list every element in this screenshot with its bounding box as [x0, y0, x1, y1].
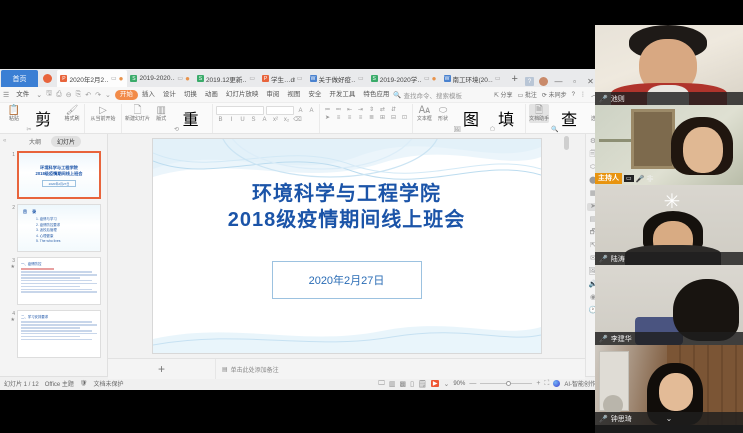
- shapes-label: 形状: [438, 116, 448, 123]
- thumbnail-list[interactable]: 1 环境科学与工程学院 2018级疫情期间线上班会 2020年2月27日 2: [0, 148, 107, 376]
- thumb-text-line: [21, 333, 97, 335]
- navigator-tabs: « 大纲 幻灯片: [0, 134, 107, 148]
- comment-button[interactable]: ▭ 批注: [518, 90, 537, 99]
- menu-bar: ☰ 文件 ⌄ 🖫 ⎙ ⊖ ⎘ ↶ ↷ ⌄ 开始 插入 设计 切换 动画 幻灯片放…: [0, 87, 600, 103]
- microphone-muted-icon: 🎤: [599, 415, 608, 423]
- shapes-button[interactable]: ⬭ 形状: [435, 104, 452, 123]
- grid-apps-icon[interactable]: ?: [525, 77, 534, 86]
- doc-tab-label: 关于做好疫…: [319, 74, 357, 84]
- participant-name: 钟思琦: [611, 414, 632, 424]
- font-family-select[interactable]: [216, 106, 264, 115]
- shrink-font-icon[interactable]: A: [307, 108, 316, 114]
- list-item[interactable]: 4 ★ 二、学习安排要求: [8, 310, 101, 358]
- zoom-out-button[interactable]: —: [469, 380, 476, 387]
- sync-icon: ⟳: [542, 93, 547, 99]
- thumbnail-slide-1[interactable]: 环境科学与工程学院 2018级疫情期间线上班会 2020年2月27日: [17, 151, 101, 199]
- notes-pane: + ▤ 单击此处添加备注: [108, 358, 585, 379]
- slide-count: 幻灯片 1 / 12: [4, 379, 39, 388]
- ribbon-group-slideshow: ▷ 从当前开始: [85, 104, 122, 133]
- undo-icon[interactable]: ↶: [85, 91, 91, 99]
- current-slide[interactable]: 环境科学与工程学院 2018级疫情期间线上班会 2020年2月27日: [152, 138, 542, 354]
- video-tile-1[interactable]: 主持人 ▭ 🎤 非: [595, 105, 743, 185]
- app-logo-icon: [38, 70, 57, 87]
- thumbnail-slide-2[interactable]: 目 录 1. 疫情与学习 2. 疫情防控要求 3. 返校后管理 4. 心理健康 …: [17, 204, 101, 252]
- print-icon[interactable]: ⎙: [56, 91, 62, 99]
- thumb-text-line: [21, 280, 92, 282]
- slide-editor: 环境科学与工程学院 2018级疫情期间线上班会 2020年2月27日 + ▤ 单…: [108, 134, 585, 376]
- doc-tab-5[interactable]: S 2019-2020学… ▭ ●: [368, 70, 441, 87]
- ribbon-group-paragraph: ≔ ≕ ⇤ ⇥ ⇕ ⇄ ⇵ ➤ ≡ ≡ ≡ ≣ ⊞: [320, 104, 413, 133]
- animation-star-icon: ★: [8, 317, 15, 323]
- strikethrough-button[interactable]: S: [249, 117, 258, 123]
- thumb-heading: 二、学习安排要求: [18, 311, 100, 320]
- doc-tab-2[interactable]: S 2019.12更新… ▭: [194, 70, 259, 87]
- doc-tab-label: 2019-2020…: [139, 75, 175, 82]
- lock-icon[interactable]: ⎘: [76, 91, 82, 99]
- textbox-label: 文本框: [417, 116, 432, 123]
- align-right-button[interactable]: ≡: [356, 115, 365, 121]
- thumb-toc-heading: 目 录: [18, 205, 100, 217]
- thumbnail-slide-3[interactable]: 一、疫情防控: [17, 257, 101, 305]
- present-dropdown-icon[interactable]: ⌄: [443, 380, 449, 388]
- format-painter-button[interactable]: 🖌 格式刷: [63, 104, 81, 123]
- help-button[interactable]: ?: [572, 92, 575, 98]
- slide-title[interactable]: 环境科学与工程学院 2018级疫情期间线上班会: [153, 181, 541, 233]
- ppt-file-icon: P: [262, 75, 269, 82]
- thumb-text-line: [21, 327, 80, 329]
- menu-tab-security[interactable]: 安全: [304, 88, 325, 102]
- dropdown-icon[interactable]: ⌄: [105, 91, 111, 99]
- microphone-icon: 🎤: [599, 95, 608, 103]
- slide-navigator-panel: « 大纲 幻灯片 1 环境科学与工程学院 2018级疫情期间线上班会 2020年…: [0, 134, 108, 376]
- doc-tab-label: 南工环境(20…: [453, 74, 493, 84]
- menu-tab-design[interactable]: 设计: [159, 88, 180, 102]
- thumb-text-line: [21, 277, 80, 279]
- slide-canvas-area[interactable]: 环境科学与工程学院 2018级疫情期间线上班会 2020年2月27日: [108, 134, 585, 358]
- participant-name: 非: [646, 174, 653, 184]
- notes-placeholder[interactable]: ▤ 单击此处添加备注: [216, 365, 279, 374]
- thumbnail-number: 3 ★: [8, 257, 15, 305]
- font-size-select[interactable]: [266, 106, 294, 115]
- play-icon: ▷: [99, 105, 107, 116]
- normal-view-icon[interactable]: 🖵: [378, 380, 385, 388]
- sync-button[interactable]: ⟳ 未同步: [542, 90, 567, 99]
- comment-icon: ▭: [518, 93, 524, 99]
- thumb-text-line: [21, 321, 92, 323]
- sheet-file-icon: S: [371, 75, 378, 82]
- doc-tab-label: 2019.12更新…: [206, 74, 247, 84]
- close-icon[interactable]: ▭: [495, 75, 501, 82]
- decorative-wave-bottom: [153, 313, 541, 353]
- subscript-button[interactable]: x₂: [282, 117, 291, 123]
- zoom-slider-knob[interactable]: [506, 381, 511, 386]
- thumb-heading: 一、疫情防控: [18, 258, 100, 267]
- participant-name: 陆涛: [611, 254, 625, 264]
- ribbon-group-slides: 🗋 新建幻灯片 ▥ 版式 ⟲ 重置 ▤ 节: [122, 104, 213, 133]
- line-spacing-button[interactable]: ⇕: [367, 106, 376, 113]
- slide-title-line1: 环境科学与工程学院: [153, 181, 541, 207]
- picture-button[interactable]: 🖼 图片: [453, 106, 486, 134]
- paste-icon: 📋: [8, 105, 20, 116]
- picture-label: 图片: [463, 106, 487, 134]
- minimize-button[interactable]: —: [553, 77, 564, 86]
- video-tile-2[interactable]: ✳ 🎤 陆涛: [595, 185, 743, 265]
- thumb-text-line: [21, 283, 97, 285]
- select-pointer-icon[interactable]: ➤: [323, 114, 332, 121]
- menu-tab-featured-apps[interactable]: 特色应用: [359, 88, 393, 102]
- align-left-button[interactable]: ≡: [334, 115, 343, 121]
- fill-icon: ⬠: [489, 126, 496, 135]
- numbering-button[interactable]: ≕: [334, 106, 343, 113]
- bullets-button[interactable]: ≔: [323, 106, 332, 113]
- hamburger-icon[interactable]: ☰: [3, 91, 9, 99]
- paste-label: 粘贴: [9, 116, 19, 123]
- doc-tab-0[interactable]: P 2020年2月2… ▭ ●: [57, 70, 127, 87]
- close-icon[interactable]: ▭: [358, 75, 364, 82]
- search-placeholder: 查找命令、搜索模板: [403, 90, 462, 100]
- participant-name: 池则: [611, 94, 625, 104]
- columns-button[interactable]: ⊞: [378, 114, 387, 121]
- close-icon[interactable]: ▭: [111, 75, 117, 82]
- workspace: « 大纲 幻灯片 1 环境科学与工程学院 2018级疫情期间线上班会 2020年…: [0, 134, 600, 376]
- textbox-icon: 🗛: [419, 105, 430, 116]
- unsaved-dot-icon: ●: [432, 76, 437, 82]
- grow-font-icon[interactable]: A: [296, 108, 305, 114]
- animation-star-icon: ★: [8, 264, 15, 270]
- ribbon-group-editing: 🗎 文档助手 🔍 查找 ⇄ 替换 🗔 选择窗格: [526, 104, 600, 133]
- find-icon: 🔍: [551, 126, 559, 135]
- print-preview-icon[interactable]: ⊖: [66, 91, 72, 99]
- menu-tab-slideshow[interactable]: 幻灯片放映: [222, 88, 263, 102]
- share-icon: ⇱: [494, 93, 499, 99]
- doc-tab-label: 学生…df: [271, 74, 295, 84]
- participant-label-0: 🎤 池则: [595, 92, 743, 105]
- menu-tab-review[interactable]: 审阅: [262, 88, 283, 102]
- increase-indent-button[interactable]: ⇥: [356, 106, 365, 113]
- thumb-toc-item: 5. The who lives: [18, 239, 100, 245]
- reading-view-icon[interactable]: ▯: [410, 380, 414, 388]
- shield-icon: 🛡: [80, 380, 88, 387]
- thumb-text-line: [21, 324, 97, 326]
- collapse-panel-icon[interactable]: «: [3, 138, 6, 144]
- find-label: 查找: [561, 106, 587, 134]
- grid-view-icon[interactable]: ▩: [399, 380, 406, 388]
- sheet-file-icon: S: [197, 75, 204, 82]
- zoom-slider[interactable]: [480, 383, 532, 384]
- reset-icon: ⟲: [172, 126, 180, 135]
- microphone-muted-icon: 🎤: [599, 335, 608, 343]
- thumb-text-line: [21, 268, 54, 270]
- smartart-button[interactable]: ⊟: [389, 114, 398, 121]
- doc-assistant-icon: 🗎: [535, 105, 543, 116]
- ai-label[interactable]: AI-智能创作: [564, 379, 596, 388]
- microphone-muted-icon: 🎤: [599, 255, 608, 263]
- fit-screen-icon[interactable]: ⛶: [544, 380, 549, 388]
- cut-button[interactable]: ✂ 剪切: [25, 106, 61, 134]
- layout-label: 版式: [156, 116, 166, 123]
- theme-name[interactable]: Office 主题: [45, 379, 74, 388]
- layout-icon: ▥: [156, 105, 165, 116]
- shapes-icon: ⬭: [439, 105, 448, 116]
- textbox-button[interactable]: 🗛 文本框: [416, 104, 433, 123]
- doc-assistant-label: 文档助手: [529, 116, 549, 123]
- decrease-indent-button[interactable]: ⇤: [345, 106, 354, 113]
- doc-assistant-button[interactable]: 🗎 文档助手: [529, 104, 549, 123]
- menu-tab-view[interactable]: 视图: [283, 88, 304, 102]
- justify-button[interactable]: ≣: [367, 114, 376, 121]
- search-icon: 🔍: [393, 91, 401, 99]
- format-painter-icon: 🖌: [66, 105, 79, 116]
- add-slide-button[interactable]: +: [108, 359, 216, 379]
- new-slide-icon: 🗋: [134, 105, 142, 116]
- wps-office-window: 首页 P 2020年2月2… ▭ ● S 2019-2020… ▭ ● S 20…: [0, 69, 600, 390]
- video-tile-0[interactable]: 🎤 池则: [595, 25, 743, 105]
- list-item[interactable]: 3 ★ 一、疫情防控: [8, 257, 101, 305]
- camera-icon: ▭: [624, 175, 634, 182]
- text-shadow-button[interactable]: A: [260, 117, 269, 123]
- menu-tab-developer[interactable]: 开发工具: [325, 88, 359, 102]
- thumb-text-line: [21, 330, 92, 332]
- align-text-button[interactable]: ⇵: [389, 106, 398, 113]
- doc-tab-4[interactable]: W 关于做好疫… ▭: [307, 70, 368, 87]
- doc-tab-1[interactable]: S 2019-2020… ▭ ●: [127, 70, 193, 87]
- thumb-text-line: [21, 291, 97, 293]
- present-button[interactable]: ▶: [431, 380, 440, 387]
- ppt-file-icon: P: [60, 75, 67, 82]
- ribbon-toolbar: 📋 粘贴 ✂ 剪切 ⧉ 复制 🖌 格式刷: [0, 103, 600, 134]
- doc-tab-label: 2020年2月2…: [69, 74, 108, 84]
- tab-outline[interactable]: 大纲: [26, 136, 44, 147]
- participant-label-2: 🎤 陆涛: [595, 252, 743, 265]
- doc-tab-6[interactable]: W 南工环境(20… ▭: [441, 70, 505, 87]
- zoom-level[interactable]: 90%: [453, 381, 465, 387]
- doc-tab-label: 2019-2020学…: [380, 74, 422, 84]
- status-right-controls: 🖵 ▥ ▩ ▯ 🗒 ▶ ⌄ 90% — + ⛶ AI-智能创作: [378, 379, 596, 388]
- reset-label: 重置: [183, 106, 209, 134]
- paste-button[interactable]: 📋 粘贴: [5, 104, 23, 123]
- host-badge: 主持人: [595, 173, 622, 184]
- close-icon[interactable]: ▭: [297, 75, 303, 82]
- paragraph-more-button[interactable]: ⊡: [400, 114, 409, 121]
- clear-format-button[interactable]: ⌫: [293, 116, 302, 123]
- thumb-text-line: [21, 339, 92, 341]
- thumb-date: 2020年2月27日: [42, 180, 76, 187]
- participant-label-3: 🎤 李建华: [595, 332, 743, 345]
- superscript-button[interactable]: x²: [271, 117, 280, 123]
- doc-file-icon: W: [444, 75, 451, 82]
- ribbon-group-font: A A B I U S A x² x₂ ⌫: [213, 104, 320, 133]
- redo-icon[interactable]: ↷: [95, 91, 101, 99]
- ai-icon[interactable]: [553, 380, 560, 387]
- home-tab[interactable]: 首页: [1, 70, 38, 87]
- doc-file-icon: W: [310, 75, 317, 82]
- italic-button[interactable]: I: [227, 117, 236, 123]
- fill-label: 填充: [498, 106, 522, 134]
- layout-button[interactable]: ▥ 版式: [152, 104, 170, 123]
- slide-title-line2: 2018级疫情期间线上班会: [153, 207, 541, 233]
- align-center-button[interactable]: ≡: [345, 115, 354, 121]
- list-item[interactable]: 2 目 录 1. 疫情与学习 2. 疫情防控要求 3. 返校后管理 4. 心理健…: [8, 204, 101, 252]
- text-direction-button[interactable]: ⇄: [378, 106, 387, 113]
- video-tile-3[interactable]: 🎤 李建华: [595, 265, 743, 345]
- menu-tab-transition[interactable]: 切换: [180, 88, 201, 102]
- window-controls: ? — ▫ ✕: [525, 77, 600, 87]
- notes-placeholder-label: 单击此处添加备注: [231, 365, 279, 374]
- ribbon-group-insert: 🗛 文本框 ⬭ 形状 🖼 图片 ▦ 排列: [413, 104, 526, 133]
- new-slide-label: 新建幻灯片: [125, 116, 150, 123]
- thumb-text-line: [21, 289, 92, 291]
- doc-tab-3[interactable]: P 学生…df ▭: [259, 70, 306, 87]
- document-tab-bar: 首页 P 2020年2月2… ▭ ● S 2019-2020… ▭ ● S 20…: [0, 69, 600, 87]
- close-icon[interactable]: ▭: [424, 75, 430, 82]
- microphone-icon: 🎤: [636, 175, 645, 183]
- menu-tab-start[interactable]: 开始: [115, 90, 138, 100]
- video-call-panel: 🎤 池则 主持人 ▭ 🎤 非 ✳ 🎤 陆涛: [595, 25, 743, 433]
- protection-status[interactable]: 文档未保护: [94, 379, 124, 388]
- cut-label: 剪切: [35, 106, 61, 134]
- search-command[interactable]: 🔍 查找命令、搜索模板: [393, 90, 462, 100]
- ribbon-group-clipboard: 📋 粘贴 ✂ 剪切 ⧉ 复制 🖌 格式刷: [2, 104, 85, 133]
- list-item[interactable]: 1 环境科学与工程学院 2018级疫情期间线上班会 2020年2月27日: [8, 151, 101, 199]
- tab-slides[interactable]: 幻灯片: [51, 136, 81, 147]
- avatar[interactable]: [539, 77, 548, 86]
- bold-button[interactable]: B: [216, 117, 225, 123]
- more-button[interactable]: ⋮: [580, 91, 586, 98]
- quick-access-toolbar: 🖫 ⎙ ⊖ ⎘ ↶ ↷ ⌄: [42, 89, 115, 100]
- thumbnail-number: 2: [8, 204, 15, 252]
- sorter-view-icon[interactable]: ▥: [389, 380, 396, 388]
- start-slideshow-button[interactable]: ▷ 从当前开始: [88, 104, 118, 123]
- thumb-text-line: [21, 271, 92, 273]
- thumb-text-line: [21, 274, 97, 276]
- thumbnail-number: 1: [8, 151, 15, 199]
- participant-name: 李建华: [611, 334, 632, 344]
- format-painter-label: 格式刷: [65, 116, 80, 123]
- thumb-text-line: [21, 336, 80, 338]
- unsaved-dot-icon: ●: [185, 76, 190, 82]
- video-tile-4[interactable]: 🎤 钟思琦 ⌄: [595, 345, 743, 425]
- slide-date-textbox[interactable]: 2020年2月27日: [272, 261, 422, 299]
- notes-view-icon[interactable]: 🗒: [418, 380, 427, 388]
- sheet-file-icon: S: [130, 75, 137, 82]
- share-button[interactable]: ⇱ 分享: [494, 90, 513, 99]
- menu-tab-animation[interactable]: 动画: [201, 88, 222, 102]
- new-tab-button[interactable]: +: [505, 72, 525, 87]
- zoom-in-button[interactable]: +: [536, 380, 540, 387]
- picture-icon: 🖼: [453, 126, 461, 135]
- start-slideshow-label: 从当前开始: [91, 116, 116, 123]
- reset-button[interactable]: ⟲ 重置: [172, 106, 209, 134]
- fill-button[interactable]: ⬠ 填充: [489, 106, 522, 134]
- menu-tab-insert[interactable]: 插入: [138, 88, 159, 102]
- new-slide-button[interactable]: 🗋 新建幻灯片: [125, 104, 150, 123]
- close-icon[interactable]: ▭: [177, 75, 183, 82]
- thumb-title-line2: 2018级疫情期间线上班会: [19, 171, 99, 177]
- vertical-scrollbar[interactable]: [564, 136, 569, 150]
- unsaved-dot-icon: ●: [119, 76, 124, 82]
- underline-button[interactable]: U: [238, 117, 247, 123]
- maximize-button[interactable]: ▫: [569, 77, 580, 86]
- thumbnail-slide-4[interactable]: 二、学习安排要求: [17, 310, 101, 358]
- screen-root: 首页 P 2020年2月2… ▭ ● S 2019-2020… ▭ ● S 20…: [0, 0, 743, 433]
- notes-icon: ▤: [222, 366, 228, 373]
- menu-file[interactable]: 文件: [12, 88, 33, 102]
- scroll-down-icon[interactable]: ⌄: [666, 414, 673, 423]
- find-button[interactable]: 🔍 查找: [551, 106, 587, 134]
- save-icon[interactable]: 🖫: [46, 89, 52, 100]
- thumb-text-line: [21, 286, 80, 288]
- thumbnail-number: 4 ★: [8, 310, 15, 358]
- participant-label-1: 主持人 ▭ 🎤 非: [595, 172, 743, 185]
- close-icon[interactable]: ▭: [249, 75, 255, 82]
- cut-icon: ✂: [25, 126, 33, 135]
